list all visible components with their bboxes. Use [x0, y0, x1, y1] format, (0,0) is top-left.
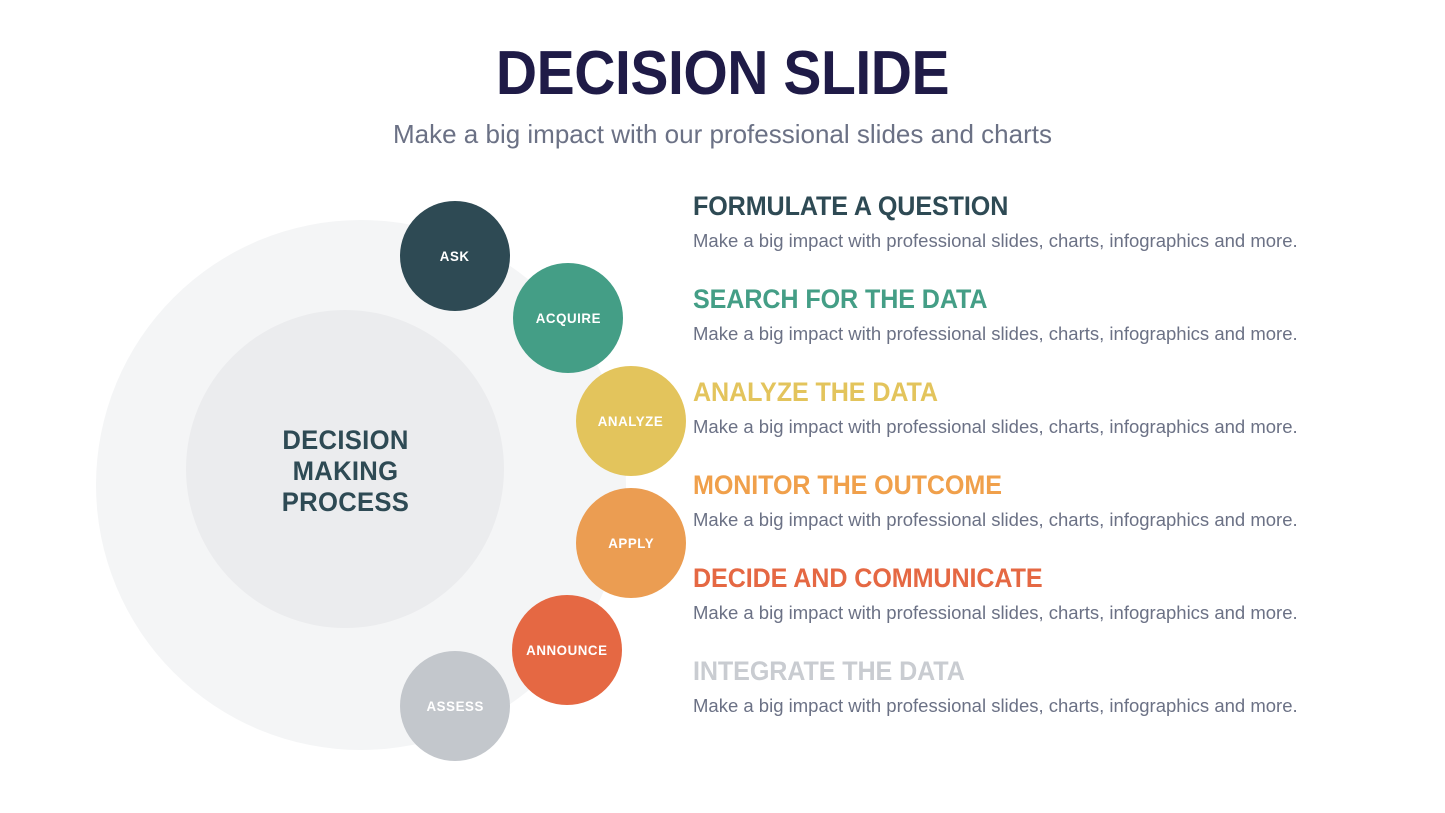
- process-node-label: ANNOUNCE: [526, 642, 607, 658]
- process-node-label: ACQUIRE: [535, 310, 600, 326]
- process-node-label: APPLY: [608, 535, 654, 551]
- step-item: MONITOR THE OUTCOMEMake a big impact wit…: [693, 469, 1393, 532]
- step-item: DECIDE AND COMMUNICATEMake a big impact …: [693, 562, 1393, 625]
- center-label-line-3: PROCESS: [220, 487, 472, 518]
- center-label-line-2: MAKING: [220, 456, 472, 487]
- page-subtitle: Make a big impact with our professional …: [0, 118, 1445, 150]
- page-title: DECISION SLIDE: [58, 40, 1387, 108]
- step-description: Make a big impact with professional slid…: [693, 322, 1393, 346]
- diagram-center-label: DECISION MAKING PROCESS: [220, 425, 472, 518]
- process-node-apply[interactable]: APPLY: [576, 488, 686, 598]
- step-description: Make a big impact with professional slid…: [693, 601, 1393, 625]
- step-title: DECIDE AND COMMUNICATE: [693, 562, 1344, 594]
- steps-list: FORMULATE A QUESTIONMake a big impact wi…: [693, 190, 1393, 718]
- process-node-ask[interactable]: ASK: [400, 201, 510, 311]
- step-title: SEARCH FOR THE DATA: [693, 283, 1344, 315]
- slide-canvas: DECISION SLIDE Make a big impact with ou…: [0, 0, 1445, 813]
- step-item: INTEGRATE THE DATAMake a big impact with…: [693, 655, 1393, 718]
- decision-process-diagram: DECISION MAKING PROCESS ASKACQUIREANALYZ…: [60, 170, 680, 790]
- slide-header: DECISION SLIDE Make a big impact with ou…: [0, 40, 1445, 150]
- step-description: Make a big impact with professional slid…: [693, 694, 1393, 718]
- process-node-label: ANALYZE: [598, 413, 664, 429]
- step-title: ANALYZE THE DATA: [693, 376, 1344, 408]
- process-node-label: ASK: [440, 248, 470, 264]
- step-item: SEARCH FOR THE DATAMake a big impact wit…: [693, 283, 1393, 346]
- step-item: ANALYZE THE DATAMake a big impact with p…: [693, 376, 1393, 439]
- step-description: Make a big impact with professional slid…: [693, 508, 1393, 532]
- process-node-analyze[interactable]: ANALYZE: [576, 366, 686, 476]
- step-description: Make a big impact with professional slid…: [693, 229, 1393, 253]
- process-node-announce[interactable]: ANNOUNCE: [512, 595, 622, 705]
- step-title: INTEGRATE THE DATA: [693, 655, 1344, 687]
- process-node-acquire[interactable]: ACQUIRE: [513, 263, 623, 373]
- process-node-assess[interactable]: ASSESS: [400, 651, 510, 761]
- center-label-line-1: DECISION: [220, 425, 472, 456]
- step-description: Make a big impact with professional slid…: [693, 415, 1393, 439]
- step-item: FORMULATE A QUESTIONMake a big impact wi…: [693, 190, 1393, 253]
- step-title: MONITOR THE OUTCOME: [693, 469, 1344, 501]
- process-node-label: ASSESS: [426, 698, 483, 714]
- step-title: FORMULATE A QUESTION: [693, 190, 1344, 222]
